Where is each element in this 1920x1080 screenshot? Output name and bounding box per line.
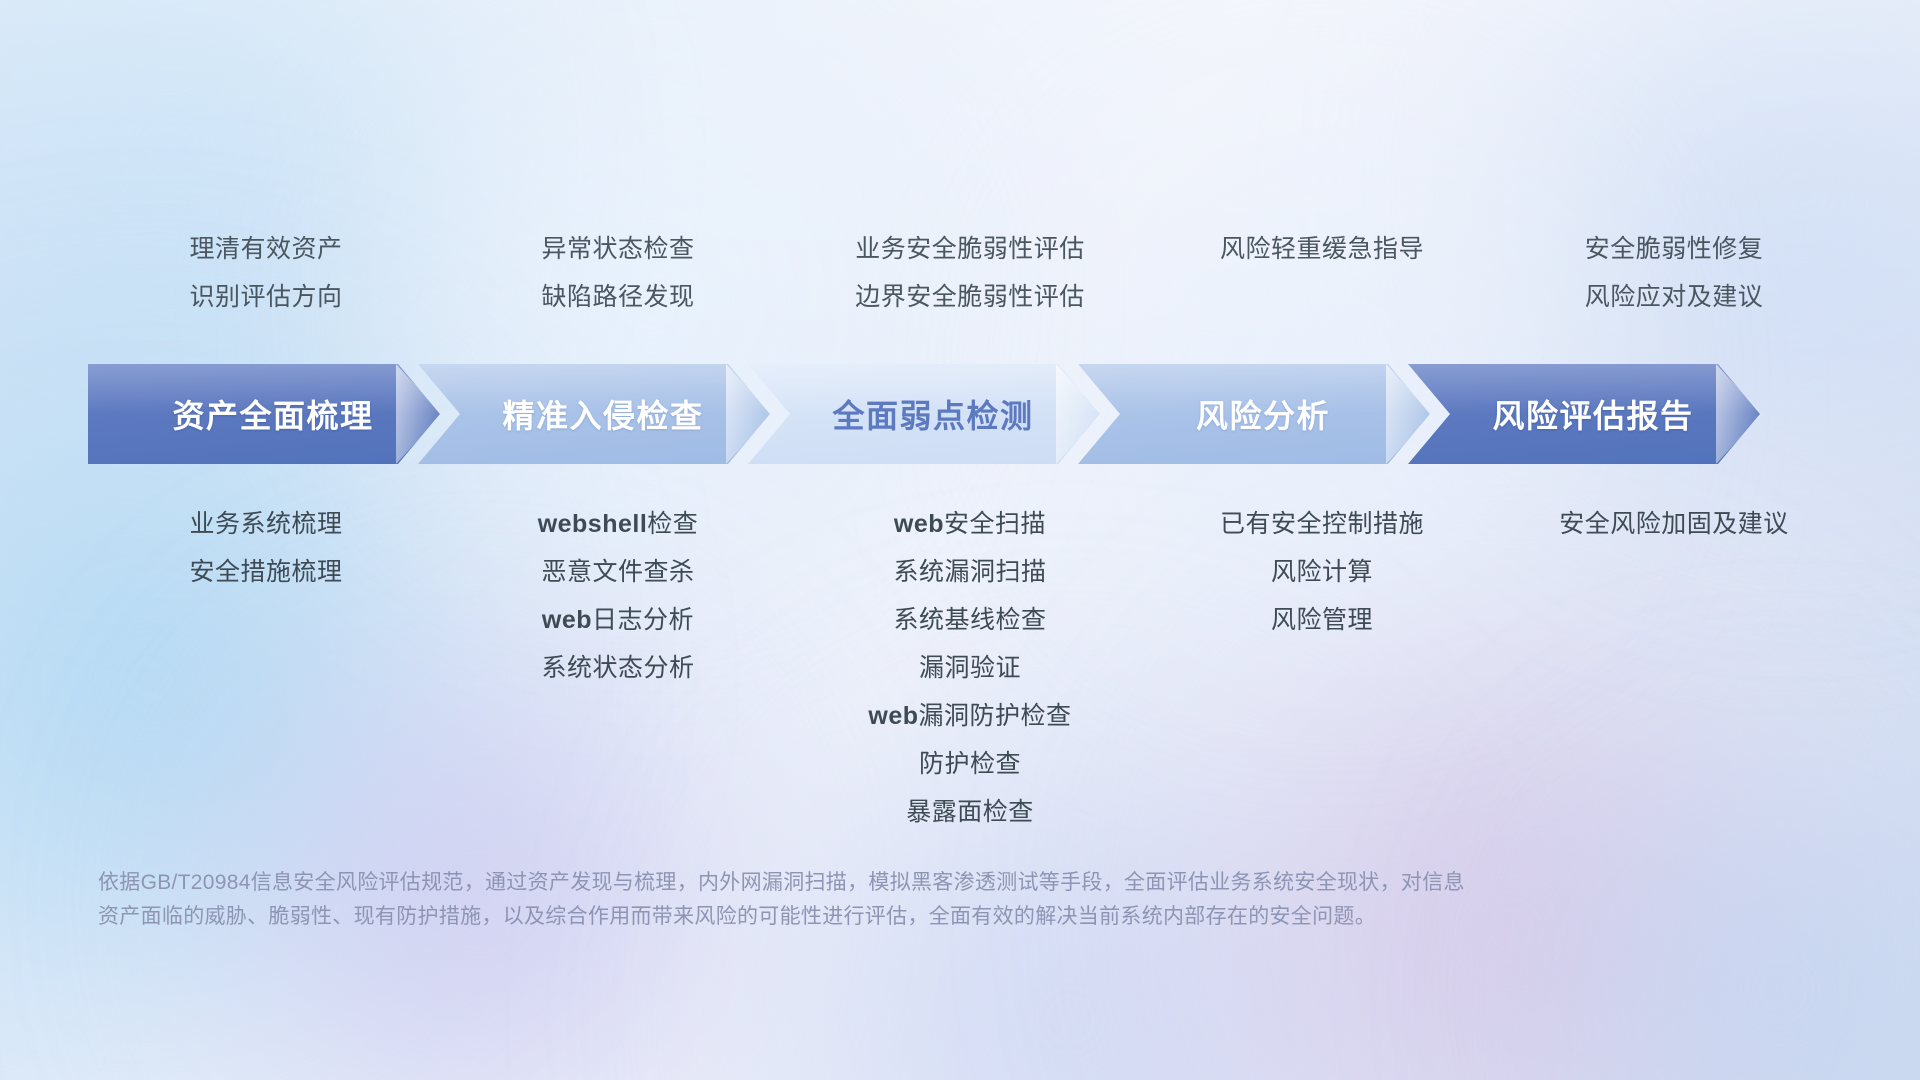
stage-item: web漏洞防护检查 bbox=[794, 692, 1146, 740]
stage-item: 业务系统梳理 bbox=[90, 500, 442, 548]
stage-item: 系统基线检查 bbox=[794, 596, 1146, 644]
stage-notes-risk-analysis: 风险轻重缓急指导 bbox=[1146, 225, 1498, 321]
stage-note: 业务安全脆弱性评估 bbox=[794, 225, 1146, 273]
stage-item: web安全扫描 bbox=[794, 500, 1146, 548]
stage-chevron-intrusion-check[interactable]: 精准入侵检查 bbox=[418, 364, 770, 464]
stage-item: 漏洞验证 bbox=[794, 644, 1146, 692]
stage-chevron-asset-inventory[interactable]: 资产全面梳理 bbox=[88, 364, 440, 464]
stage-notes-weakness-detection: 业务安全脆弱性评估边界安全脆弱性评估 bbox=[794, 225, 1146, 321]
stage-notes-row: 理清有效资产识别评估方向异常状态检查缺陷路径发现业务安全脆弱性评估边界安全脆弱性… bbox=[90, 225, 1850, 321]
stage-item: 系统漏洞扫描 bbox=[794, 548, 1146, 596]
stage-note: 风险轻重缓急指导 bbox=[1146, 225, 1498, 273]
stage-item: 安全措施梳理 bbox=[90, 548, 442, 596]
stage-item: 暴露面检查 bbox=[794, 788, 1146, 836]
process-diagram: 理清有效资产识别评估方向异常状态检查缺陷路径发现业务安全脆弱性评估边界安全脆弱性… bbox=[0, 0, 1920, 1080]
stage-chevron-risk-report[interactable]: 风险评估报告 bbox=[1408, 364, 1760, 464]
stage-item: web日志分析 bbox=[442, 596, 794, 644]
stage-item: 风险管理 bbox=[1146, 596, 1498, 644]
stage-item: 防护检查 bbox=[794, 740, 1146, 788]
stage-items-intrusion-check: webshell检查恶意文件查杀web日志分析系统状态分析 bbox=[442, 500, 794, 692]
stage-note: 安全脆弱性修复 bbox=[1498, 225, 1850, 273]
stage-notes-asset-inventory: 理清有效资产识别评估方向 bbox=[90, 225, 442, 321]
stage-items-weakness-detection: web安全扫描系统漏洞扫描系统基线检查漏洞验证web漏洞防护检查防护检查暴露面检… bbox=[794, 500, 1146, 836]
stage-item: 已有安全控制措施 bbox=[1146, 500, 1498, 548]
stage-item: 恶意文件查杀 bbox=[442, 548, 794, 596]
stage-note: 异常状态检查 bbox=[442, 225, 794, 273]
stage-title: 风险评估报告 bbox=[1474, 391, 1693, 437]
stage-note: 边界安全脆弱性评估 bbox=[794, 273, 1146, 321]
stage-items-asset-inventory: 业务系统梳理安全措施梳理 bbox=[90, 500, 442, 596]
stage-note: 识别评估方向 bbox=[90, 273, 442, 321]
stage-chevron-weakness-detection[interactable]: 全面弱点检测 bbox=[748, 364, 1100, 464]
stage-items-risk-report: 安全风险加固及建议 bbox=[1498, 500, 1850, 548]
stage-title: 资产全面梳理 bbox=[154, 391, 373, 437]
stage-notes-risk-report: 安全脆弱性修复风险应对及建议 bbox=[1498, 225, 1850, 321]
stage-title: 全面弱点检测 bbox=[814, 391, 1033, 437]
stage-notes-intrusion-check: 异常状态检查缺陷路径发现 bbox=[442, 225, 794, 321]
stage-chevron-risk-analysis[interactable]: 风险分析 bbox=[1078, 364, 1430, 464]
footer-line-2: 资产面临的威胁、脆弱性、现有防护措施，以及综合作用而带来风险的可能性进行评估，全… bbox=[98, 900, 1658, 934]
footer-description: 依据GB/T20984信息安全风险评估规范，通过资产发现与梳理，内外网漏洞扫描，… bbox=[98, 866, 1658, 934]
stage-chevron-band: 资产全面梳理精准入侵检查全面弱点检测风险分析风险评估报告 bbox=[88, 364, 1850, 464]
footer-line-1: 依据GB/T20984信息安全风险评估规范，通过资产发现与梳理，内外网漏洞扫描，… bbox=[98, 866, 1658, 900]
stage-title: 风险分析 bbox=[1178, 391, 1330, 437]
stage-items-risk-analysis: 已有安全控制措施风险计算风险管理 bbox=[1146, 500, 1498, 644]
stage-note: 风险应对及建议 bbox=[1498, 273, 1850, 321]
stage-title: 精准入侵检查 bbox=[484, 391, 703, 437]
stage-note: 缺陷路径发现 bbox=[442, 273, 794, 321]
stage-item: 系统状态分析 bbox=[442, 644, 794, 692]
stage-item: webshell检查 bbox=[442, 500, 794, 548]
stage-items-row: 业务系统梳理安全措施梳理webshell检查恶意文件查杀web日志分析系统状态分… bbox=[90, 500, 1850, 836]
stage-item: 安全风险加固及建议 bbox=[1498, 500, 1850, 548]
stage-item: 风险计算 bbox=[1146, 548, 1498, 596]
stage-note: 理清有效资产 bbox=[90, 225, 442, 273]
